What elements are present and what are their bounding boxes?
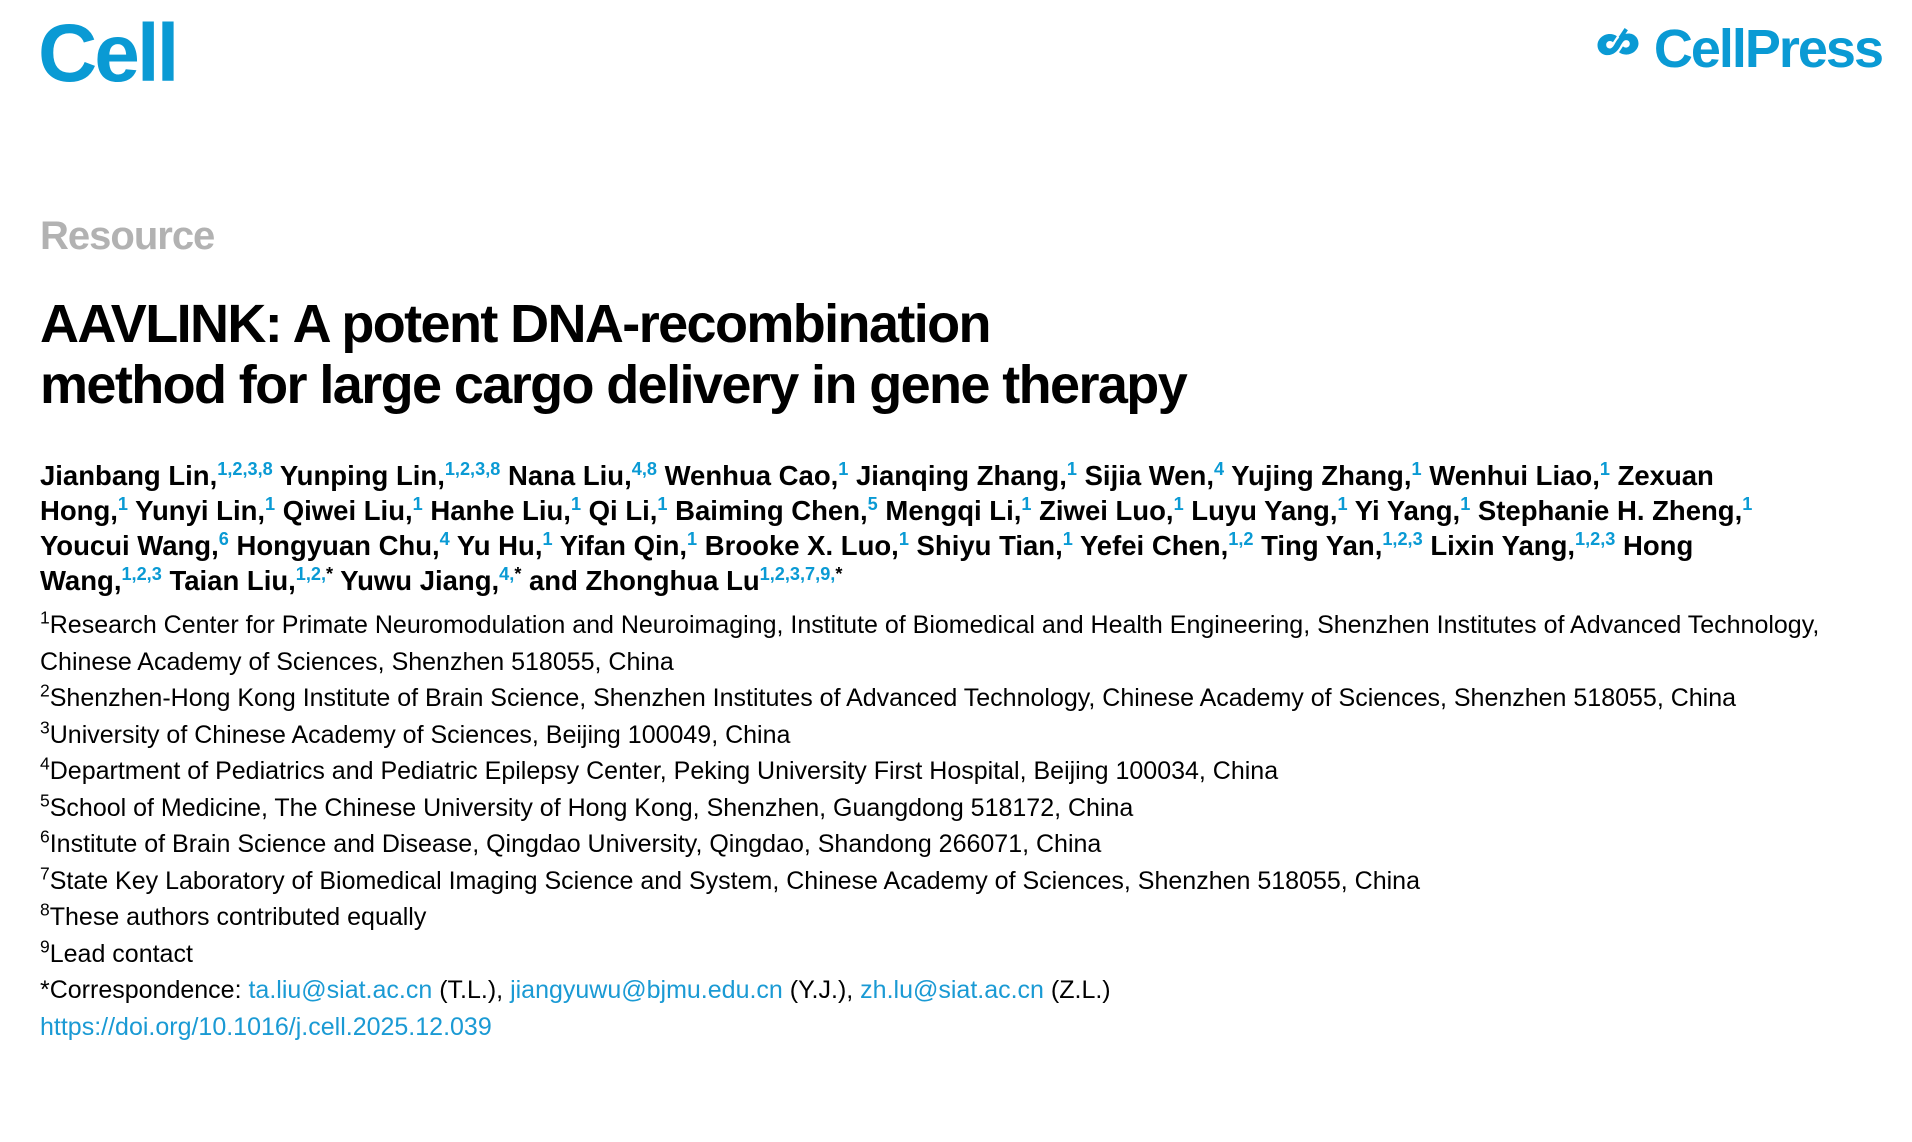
affiliation-item: 2Shenzhen-Hong Kong Institute of Brain S… — [40, 680, 1880, 717]
affiliation-item: 3University of Chinese Academy of Scienc… — [40, 717, 1880, 754]
doi-link[interactable]: https://doi.org/10.1016/j.cell.2025.12.0… — [40, 1013, 492, 1041]
affiliation-item: 9Lead contact — [40, 936, 1880, 973]
affiliation-text: School of Medicine, The Chinese Universi… — [50, 794, 1134, 822]
affiliation-entries: 1Research Center for Primate Neuromodula… — [40, 607, 1880, 972]
article-type-kicker: Resource — [40, 214, 1880, 258]
correspondence-email-link[interactable]: ta.liu@siat.ac.cn — [248, 976, 432, 1004]
affiliation-text: Shenzhen-Hong Kong Institute of Brain Sc… — [50, 684, 1736, 712]
affiliation-marker: 2 — [40, 681, 50, 701]
correspondence-email-link[interactable]: zh.lu@siat.ac.cn — [860, 976, 1044, 1004]
page-title: AAVLINK: A potent DNA-recombination meth… — [40, 294, 1660, 416]
affiliation-item: 1Research Center for Primate Neuromodula… — [40, 607, 1880, 680]
affiliation-marker: 6 — [40, 827, 50, 847]
affiliation-item: 7State Key Laboratory of Biomedical Imag… — [40, 863, 1880, 900]
page-masthead: Cell CellPress — [0, 0, 1912, 130]
correspondence-emails: ta.liu@siat.ac.cn (T.L.), jiangyuwu@bjmu… — [248, 976, 1110, 1004]
correspondence-label: *Correspondence: — [40, 976, 242, 1004]
title-line-1: AAVLINK: A potent DNA-recombination — [40, 294, 990, 354]
affiliation-text: Department of Pediatrics and Pediatric E… — [50, 757, 1278, 785]
affiliation-marker: 5 — [40, 790, 50, 810]
cell-journal-logo[interactable]: Cell — [38, 6, 176, 102]
affiliation-text: State Key Laboratory of Biomedical Imagi… — [50, 867, 1420, 895]
title-line-2: method for large cargo delivery in gene … — [40, 355, 1186, 415]
affiliation-list: 1Research Center for Primate Neuromodula… — [40, 607, 1880, 1045]
affiliation-marker: 8 — [40, 900, 50, 920]
correspondence-email-link[interactable]: jiangyuwu@bjmu.edu.cn — [510, 976, 783, 1004]
affiliation-marker: 9 — [40, 936, 50, 956]
correspondence-line: *Correspondence: ta.liu@siat.ac.cn (T.L.… — [40, 972, 1880, 1009]
affiliation-text: Research Center for Primate Neuromodulat… — [40, 611, 1819, 676]
affiliation-text: These authors contributed equally — [50, 903, 427, 931]
correspondence-initials: (Y.J.), — [783, 976, 853, 1004]
affiliation-marker: 4 — [40, 754, 50, 774]
correspondence-initials: (Z.L.) — [1044, 976, 1111, 1004]
author-list: Jianbang Lin,1,2,3,8 Yunping Lin,1,2,3,8… — [40, 458, 1780, 598]
doi-line: https://doi.org/10.1016/j.cell.2025.12.0… — [40, 1009, 1880, 1046]
affiliation-item: 8These authors contributed equally — [40, 899, 1880, 936]
affiliation-item: 5School of Medicine, The Chinese Univers… — [40, 790, 1880, 827]
correspondence-initials: (T.L.), — [432, 976, 503, 1004]
cellpress-swirl-icon — [1594, 24, 1644, 74]
affiliation-text: Lead contact — [50, 940, 193, 968]
affiliation-item: 6Institute of Brain Science and Disease,… — [40, 826, 1880, 863]
article-header: Resource AAVLINK: A potent DNA-recombina… — [40, 214, 1880, 1045]
cellpress-publisher-logo[interactable]: CellPress — [1594, 22, 1882, 76]
affiliation-marker: 1 — [40, 608, 50, 628]
affiliation-text: University of Chinese Academy of Science… — [50, 721, 791, 749]
affiliation-item: 4Department of Pediatrics and Pediatric … — [40, 753, 1880, 790]
affiliation-marker: 7 — [40, 863, 50, 883]
cellpress-wordmark: CellPress — [1654, 22, 1882, 76]
affiliation-text: Institute of Brain Science and Disease, … — [50, 830, 1102, 858]
affiliation-marker: 3 — [40, 717, 50, 737]
